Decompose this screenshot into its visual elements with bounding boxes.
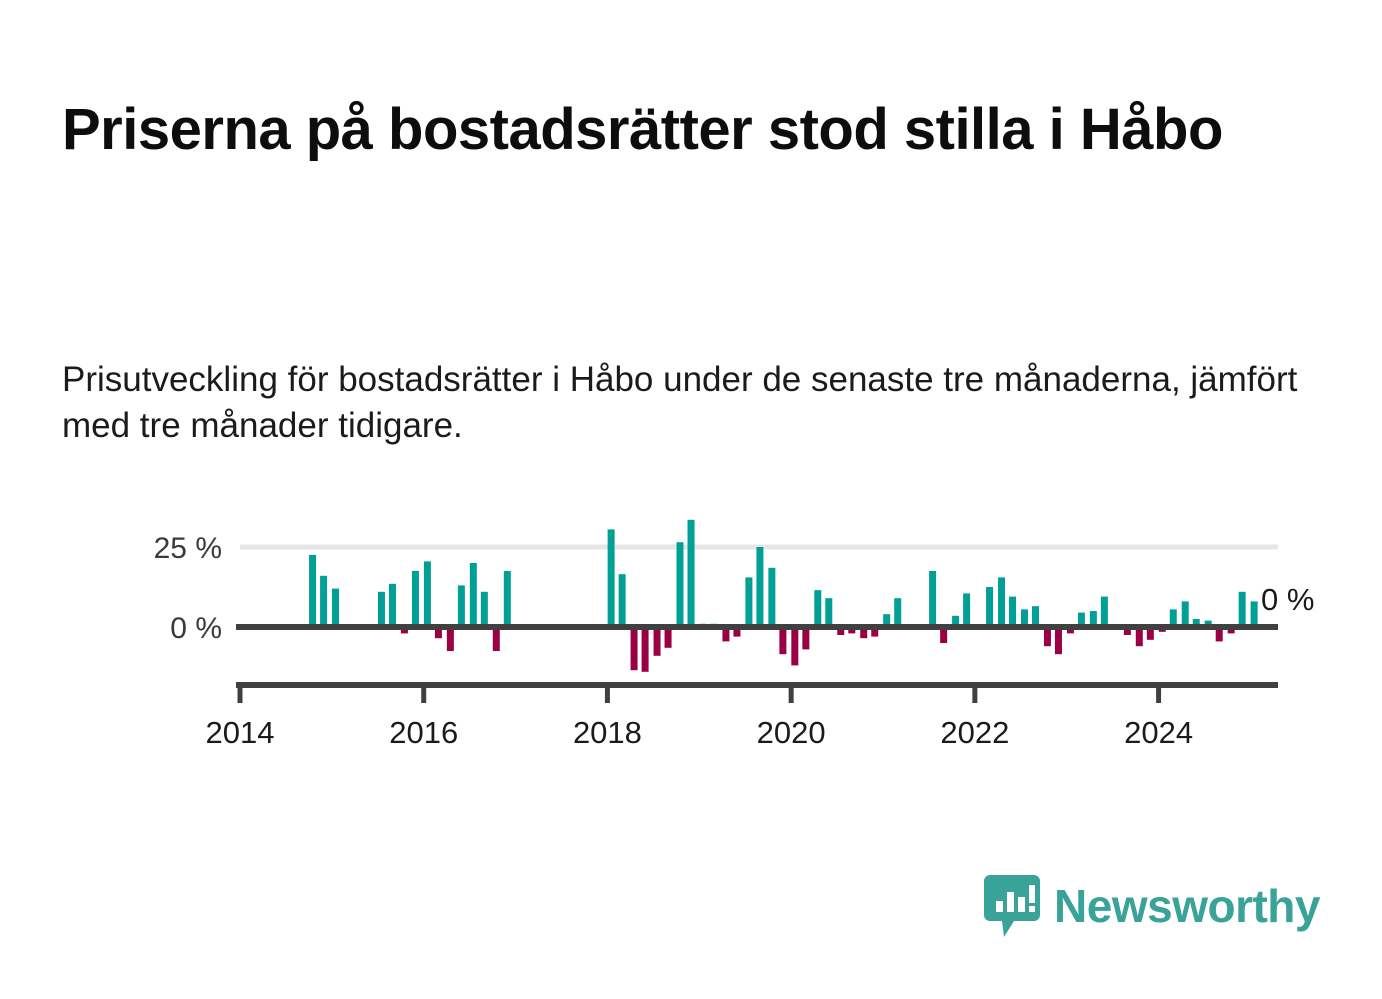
x-axis-tick-label: 2016 [389, 715, 458, 750]
bar [458, 585, 465, 627]
bar [378, 592, 385, 627]
bar [791, 627, 798, 665]
bar [825, 598, 832, 627]
bar [963, 593, 970, 627]
bar [424, 561, 431, 627]
chart-canvas: 0 %25 %2014201620182020202220240 % [0, 495, 1382, 785]
bar [745, 577, 752, 627]
bar [677, 542, 684, 627]
bar [504, 571, 511, 627]
bar [665, 627, 672, 648]
bar [1009, 597, 1016, 627]
bar [779, 627, 786, 654]
bar-chart-speech-bubble-icon [984, 875, 1040, 937]
bar [929, 571, 936, 627]
y-axis-tick-label: 25 % [154, 532, 222, 565]
bar [493, 627, 500, 651]
bar [631, 627, 638, 670]
x-axis-tick-label: 2020 [757, 715, 826, 750]
bar [389, 584, 396, 627]
bar [309, 555, 316, 627]
bar [1055, 627, 1062, 654]
bar [1032, 606, 1039, 627]
chart-page: Priserna på bostadsrätter stod stilla i … [0, 0, 1382, 999]
x-axis-tick-label: 2022 [940, 715, 1009, 750]
bar [1239, 592, 1246, 627]
bar [608, 529, 615, 627]
value-annotation: 0 % [1261, 582, 1314, 617]
x-axis-tick-label: 2024 [1124, 715, 1193, 750]
newsworthy-logo: Newsworthy [984, 875, 1320, 937]
bar [642, 627, 649, 672]
bar [1182, 601, 1189, 627]
bar [447, 627, 454, 651]
bar [1101, 597, 1108, 627]
bar [412, 571, 419, 627]
bar [998, 577, 1005, 627]
bar [619, 574, 626, 627]
bar [320, 576, 327, 627]
bar [688, 520, 695, 627]
bar [986, 587, 993, 627]
bar [332, 589, 339, 627]
x-axis-tick-label: 2014 [206, 715, 275, 750]
bar [768, 568, 775, 627]
brand-name: Newsworthy [1054, 883, 1320, 929]
x-axis-tick-label: 2018 [573, 715, 642, 750]
bar [802, 627, 809, 649]
bar [470, 563, 477, 627]
y-axis-tick-label: 0 % [170, 612, 222, 645]
bar [1251, 601, 1258, 627]
bar [756, 547, 763, 627]
bar [814, 590, 821, 627]
page-subtitle: Prisutveckling för bostadsrätter i Håbo … [62, 357, 1312, 449]
bar [481, 592, 488, 627]
bar [894, 598, 901, 627]
bar-chart: 0 %25 %2014201620182020202220240 % [0, 495, 1382, 785]
bar [654, 627, 661, 656]
page-title: Priserna på bostadsrätter stod stilla i … [62, 99, 1332, 162]
